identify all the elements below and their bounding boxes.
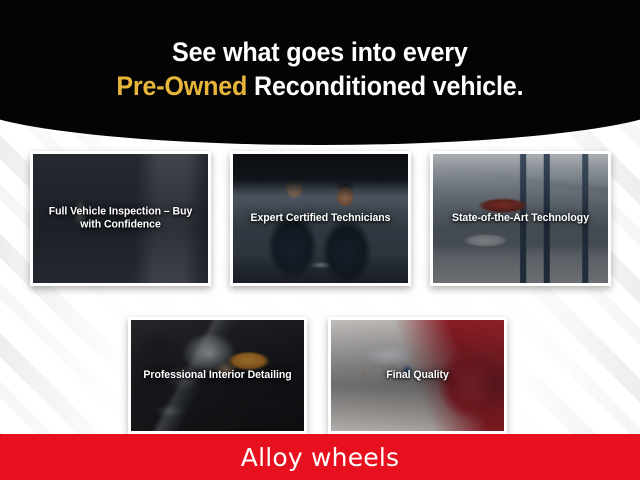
feature-card-full-vehicle-inspection[interactable]: Full Vehicle Inspection – Buy with Confi…	[30, 151, 211, 286]
headline-highlight: Pre-Owned	[116, 71, 247, 101]
page-title: See what goes into every Pre-Owned Recon…	[116, 36, 523, 103]
headline-line-2: Reconditioned vehicle.	[247, 71, 523, 101]
card-caption: Expert Certified Technicians	[242, 212, 399, 226]
feature-card-expert-certified-technicians[interactable]: Expert Certified Technicians	[230, 151, 411, 286]
footer-label: Alloy wheels	[241, 445, 399, 470]
feature-card-final-quality[interactable]: Final Quality	[328, 317, 507, 434]
feature-card-state-of-the-art-technology[interactable]: State-of-the-Art Technology	[430, 151, 611, 286]
card-caption: Final Quality	[340, 369, 495, 383]
headline-line-1: See what goes into every	[172, 37, 468, 67]
footer-banner: Alloy wheels	[0, 434, 640, 480]
card-caption: State-of-the-Art Technology	[442, 212, 599, 226]
promo-graphic: See what goes into every Pre-Owned Recon…	[0, 0, 640, 480]
feature-card-professional-interior-detailing[interactable]: Professional Interior Detailing	[128, 317, 307, 434]
card-caption: Full Vehicle Inspection – Buy with Confi…	[42, 205, 199, 232]
card-caption: Professional Interior Detailing	[140, 369, 295, 383]
header-banner: See what goes into every Pre-Owned Recon…	[0, 0, 640, 145]
